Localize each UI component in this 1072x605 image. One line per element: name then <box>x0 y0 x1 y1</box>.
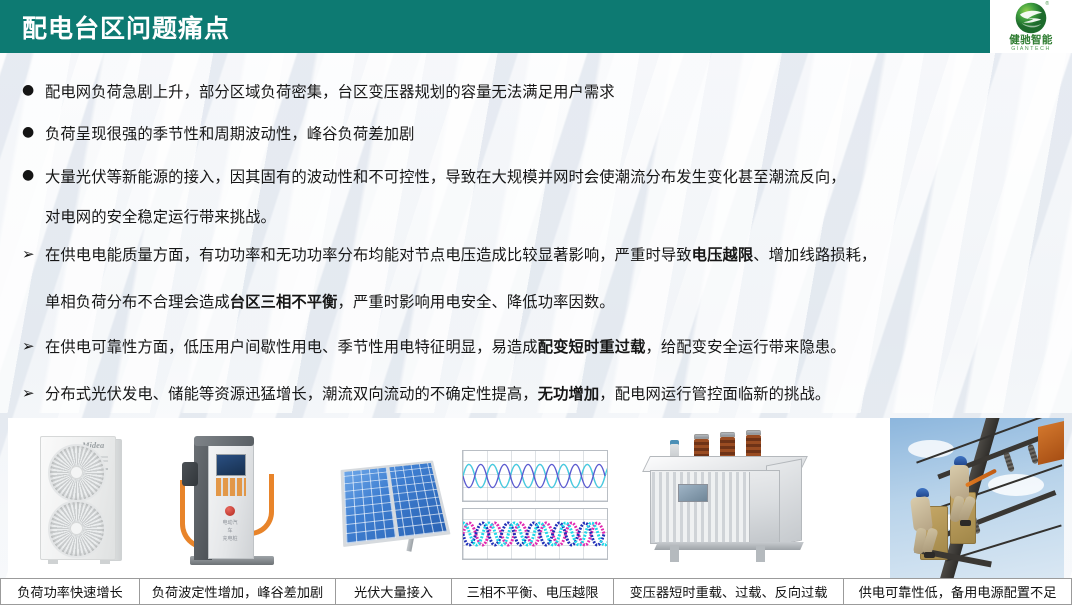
helmet-icon <box>954 456 967 465</box>
bullet-marker: ● <box>22 83 34 97</box>
slide-body: ● 配电网负荷急剧上升，部分区域负荷密集，台区变压器规划的容量无法满足用户需求 … <box>0 53 1072 413</box>
body-line: 在供电可靠性方面，低压用户间歇性用电、季节性用电特征明显，易造成配变短时重过载，… <box>45 335 846 357</box>
arrow-bullet-marker: ➢ <box>22 245 35 263</box>
caption-cell: 供电可靠性低，备用电源配置不足 <box>843 578 1072 605</box>
body-line: 分布式光伏发电、储能等资源迅猛增长，潮流双向流动的不确定性提高，无功增加，配电网… <box>45 382 830 404</box>
waveform-plot-top <box>462 450 608 502</box>
body-line: 单相负荷分布不合理会造成台区三相不平衡，严重时影响用电安全、降低功率因数。 <box>45 290 615 312</box>
caption-cell: 负荷波定性增加，峰谷差加剧 <box>139 578 335 605</box>
company-logo: ® 健驰智能 GIANTECH <box>990 0 1072 53</box>
body-line: 大量光伏等新能源的接入，因其固有的波动性和不可控性，导致在大规模并网时会使潮流分… <box>45 165 846 187</box>
body-line: 负荷呈现很强的季节性和周期波动性，峰谷负荷差加剧 <box>45 122 415 144</box>
caption-cell: 负荷功率快速增长 <box>0 578 139 605</box>
slide-header: 配电台区问题痛点 <box>0 0 1072 53</box>
illustration-strip: Midea 电动汽车充电桩 <box>8 418 1064 578</box>
arrow-bullet-marker: ➢ <box>22 337 35 355</box>
photo-linemen <box>838 418 1064 578</box>
caption-cell: 光伏大量接入 <box>335 578 451 605</box>
caption-cell: 三相不平衡、电压越限 <box>451 578 613 605</box>
bullet-marker: ● <box>22 168 34 182</box>
logo-name-en: GIANTECH <box>1011 46 1051 53</box>
photo-air-conditioner: Midea <box>8 418 146 578</box>
arrow-bullet-marker: ➢ <box>22 384 35 402</box>
body-line: 在供电电能质量方面，有功功率和无功功率分布均能对节点电压造成比较显著影响，严重时… <box>45 243 876 265</box>
logo-name-cn: 健驰智能 <box>1009 35 1053 46</box>
leaf-emblem-icon: ® <box>1014 1 1048 35</box>
body-line: 配电网负荷急剧上升，部分区域负荷密集，台区变压器规划的容量无法满足用户需求 <box>45 80 615 102</box>
photo-transformer <box>616 418 838 578</box>
waveform-plot-bottom <box>462 508 608 560</box>
bullet-marker: ● <box>22 125 34 139</box>
registered-mark-icon: ® <box>1045 1 1049 7</box>
page-title: 配电台区问题痛点 <box>22 9 230 45</box>
caption-bar: 负荷功率快速增长 负荷波定性增加，峰谷差加剧 光伏大量接入 三相不平衡、电压越限… <box>0 578 1072 605</box>
photo-ev-charger: 电动汽车充电桩 <box>146 418 328 578</box>
body-line: 对电网的安全稳定运行带来挑战。 <box>45 205 276 227</box>
photo-waveform-chart <box>452 418 616 578</box>
caption-cell: 变压器短时重载、过载、反向过载 <box>613 578 843 605</box>
photo-solar-panel <box>328 418 452 578</box>
